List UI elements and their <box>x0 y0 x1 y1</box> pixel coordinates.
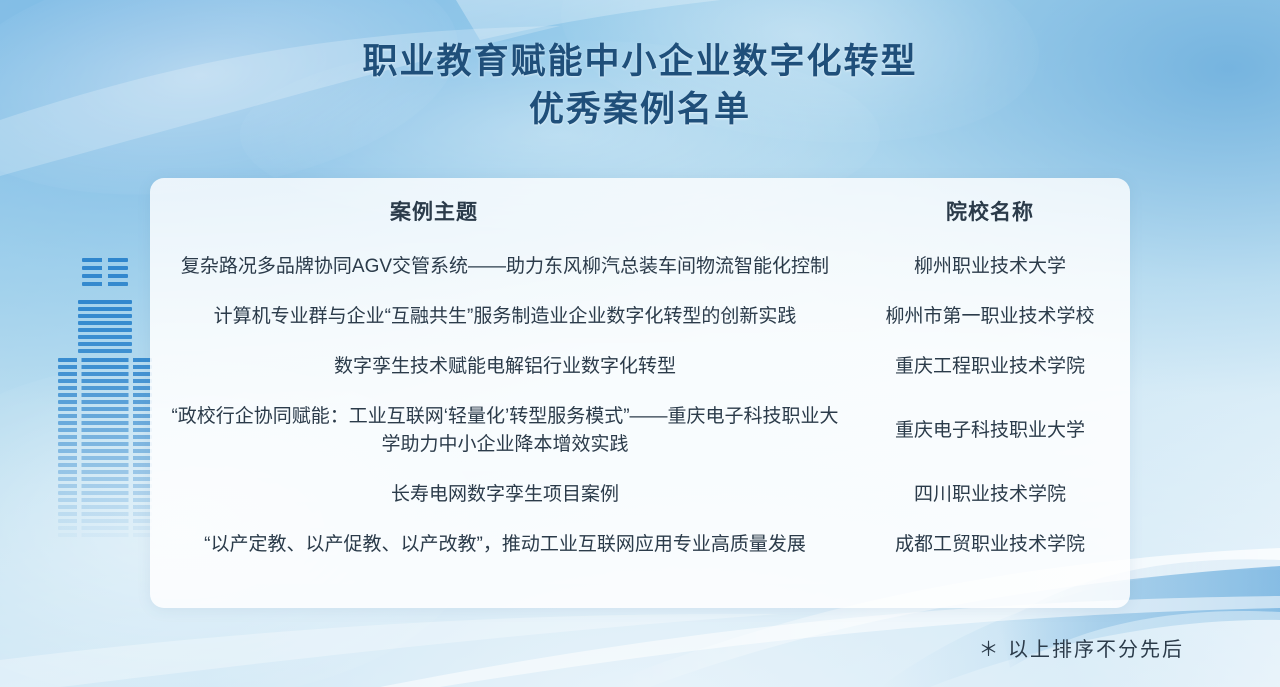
column-header-school: 院校名称 <box>850 178 1130 242</box>
cell-case-topic: “以产定教、以产促教、以产改教”，推动工业互联网应用专业高质量发展 <box>150 520 850 570</box>
table-header-row: 案例主题 院校名称 <box>150 178 1130 242</box>
table-row: 数字孪生技术赋能电解铝行业数字化转型重庆工程职业技术学院 <box>150 342 1130 392</box>
slide-canvas: 职业教育赋能中小企业数字化转型 优秀案例名单 案例主题 院校名称 复杂路况多品牌… <box>0 0 1280 687</box>
cell-case-topic: “政校行企协同赋能：工业互联网‘轻量化’转型服务模式”——重庆电子科技职业大学助… <box>150 392 850 470</box>
cell-case-topic: 计算机专业群与企业“互融共生”服务制造业企业数字化转型的创新实践 <box>150 292 850 342</box>
title-line-2: 优秀案例名单 <box>0 86 1280 134</box>
background-haze-wisp <box>550 0 1049 165</box>
cell-school-name: 成都工贸职业技术学院 <box>850 520 1130 570</box>
column-header-topic: 案例主题 <box>150 178 850 242</box>
case-list-card: 案例主题 院校名称 复杂路况多品牌协同AGV交管系统——助力东风柳汽总装车间物流… <box>150 178 1130 608</box>
table-row: “政校行企协同赋能：工业互联网‘轻量化’转型服务模式”——重庆电子科技职业大学助… <box>150 392 1130 470</box>
table-row: 长寿电网数字孪生项目案例四川职业技术学院 <box>150 470 1130 520</box>
cell-case-topic: 数字孪生技术赋能电解铝行业数字化转型 <box>150 342 850 392</box>
cell-school-name: 柳州市第一职业技术学校 <box>850 292 1130 342</box>
table-row: 计算机专业群与企业“互融共生”服务制造业企业数字化转型的创新实践柳州市第一职业技… <box>150 292 1130 342</box>
cell-school-name: 四川职业技术学院 <box>850 470 1130 520</box>
city-building-graphic <box>56 258 154 588</box>
title-line-1: 职业教育赋能中小企业数字化转型 <box>0 38 1280 86</box>
footnote-note: ＊ 以上排序不分先后 <box>978 633 1184 662</box>
table-body: 复杂路况多品牌协同AGV交管系统——助力东风柳汽总装车间物流智能化控制柳州职业技… <box>150 242 1130 570</box>
table-row: “以产定教、以产促教、以产改教”，推动工业互联网应用专业高质量发展成都工贸职业技… <box>150 520 1130 570</box>
cell-school-name: 重庆工程职业技术学院 <box>850 342 1130 392</box>
cell-school-name: 柳州职业技术大学 <box>850 242 1130 292</box>
cell-case-topic: 长寿电网数字孪生项目案例 <box>150 470 850 520</box>
case-list-table: 案例主题 院校名称 复杂路况多品牌协同AGV交管系统——助力东风柳汽总装车间物流… <box>150 178 1130 570</box>
page-title: 职业教育赋能中小企业数字化转型 优秀案例名单 <box>0 38 1280 134</box>
table-header: 案例主题 院校名称 <box>150 178 1130 242</box>
cell-school-name: 重庆电子科技职业大学 <box>850 392 1130 470</box>
table-row: 复杂路况多品牌协同AGV交管系统——助力东风柳汽总装车间物流智能化控制柳州职业技… <box>150 242 1130 292</box>
cell-case-topic: 复杂路况多品牌协同AGV交管系统——助力东风柳汽总装车间物流智能化控制 <box>150 242 850 292</box>
